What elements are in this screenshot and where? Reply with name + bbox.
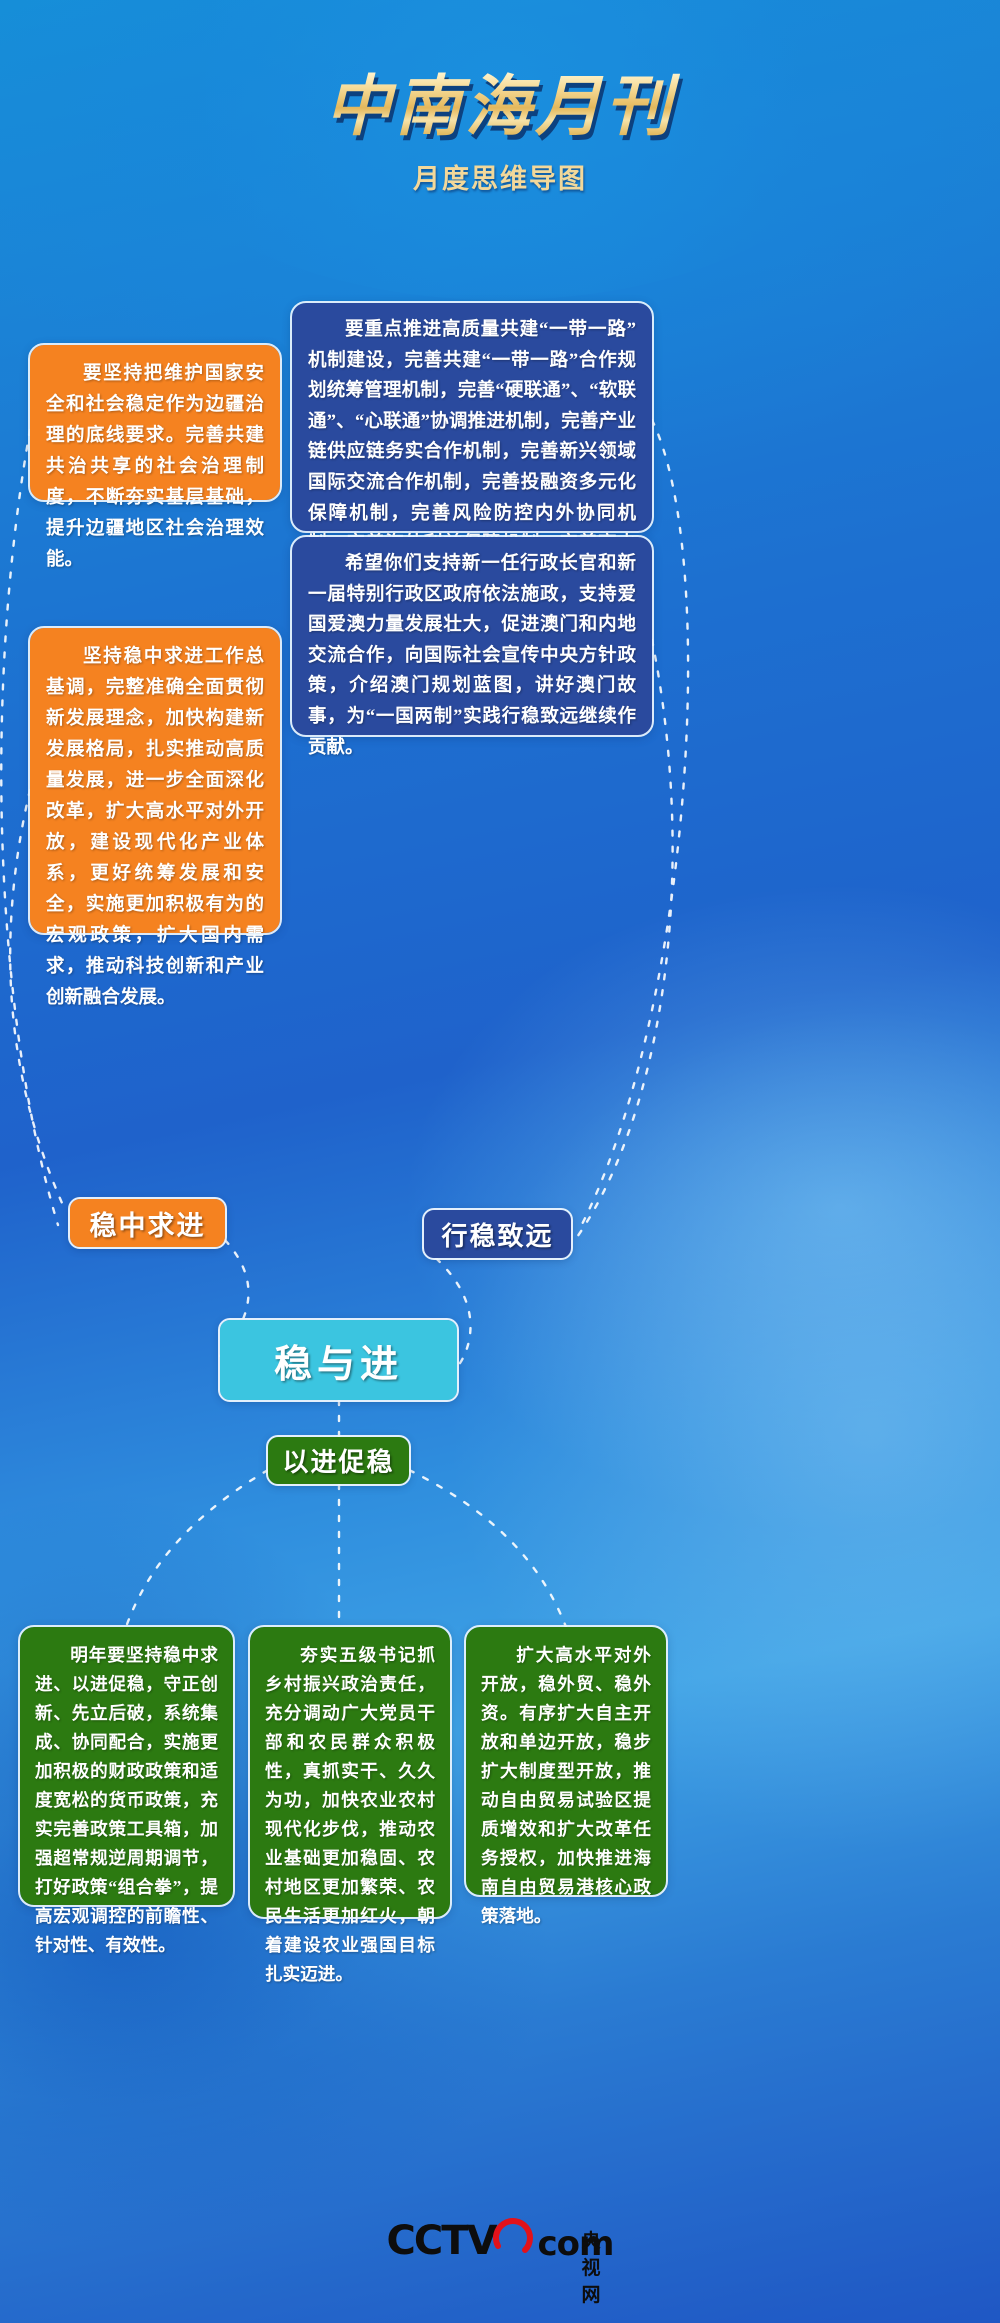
- card-steady-progress-text: 坚持稳中求进工作总基调，完整准确全面贯彻新发展理念，加快构建新发展格局，扎实推动…: [46, 642, 264, 1014]
- node-steady-and-far: 行稳致远: [424, 1210, 571, 1258]
- cctv-wordmark: CCTV: [387, 2222, 496, 2260]
- cctv-chinese-name: 央视网: [582, 2226, 614, 2307]
- card-macau-text: 希望你们支持新一任行政长官和新一届特别行政区政府依法施政，支持爱国爱澳力量发展壮…: [308, 549, 636, 763]
- infographic-canvas: 中南海月刊 月度思维导图 要坚持把维护国家安全和社会稳定作为边疆治理的底线要求。…: [0, 0, 1000, 2323]
- cctv-arc-icon: [492, 2216, 536, 2260]
- card-border-governance-text: 要坚持把维护国家安全和社会稳定作为边疆治理的底线要求。完善共建共治共享的社会治理…: [46, 359, 264, 576]
- node-center-stability-and-progress: 稳与进: [220, 1320, 457, 1400]
- cctv-logo-right: 央视网 com: [534, 2228, 614, 2260]
- node-progress-for-stability: 以进促稳: [268, 1437, 409, 1484]
- card-rural-revitalization-text: 夯实五级书记抓乡村振兴政治责任，充分调动广大党员干部和农民群众积极性，真抓实干、…: [265, 1641, 435, 1989]
- card-opening-up: 扩大高水平对外开放，稳外贸、稳外资。有序扩大自主开放和单边开放，稳步扩大制度型开…: [466, 1627, 666, 1895]
- footer: CCTV 央视网 com: [0, 2216, 1000, 2260]
- node-center-label: 稳与进: [274, 1333, 403, 1388]
- card-border-governance: 要坚持把维护国家安全和社会稳定作为边疆治理的底线要求。完善共建共治共享的社会治理…: [30, 345, 280, 500]
- card-rural-revitalization: 夯实五级书记抓乡村振兴政治责任，充分调动广大党员干部和农民群众积极性，真抓实干、…: [250, 1627, 450, 1917]
- header: 中南海月刊 月度思维导图: [0, 0, 1000, 196]
- node-steady-then-progress: 稳中求进: [70, 1199, 225, 1247]
- card-policy-toolbox: 明年要坚持稳中求进、以进促稳，守正创新、先立后破，系统集成、协同配合，实施更加积…: [20, 1627, 233, 1905]
- cctv-logo[interactable]: CCTV 央视网 com: [387, 2216, 614, 2260]
- card-belt-and-road: 要重点推进高质量共建“一带一路”机制建设，完善共建“一带一路”合作规划统筹管理机…: [292, 303, 652, 531]
- page-title: 中南海月刊: [0, 72, 1000, 141]
- card-steady-progress: 坚持稳中求进工作总基调，完整准确全面贯彻新发展理念，加快构建新发展格局，扎实推动…: [30, 628, 280, 933]
- node-steady-and-far-label: 行稳致远: [441, 1216, 553, 1253]
- node-progress-for-stability-label: 以进促稳: [282, 1442, 394, 1479]
- card-opening-up-text: 扩大高水平对外开放，稳外贸、稳外资。有序扩大自主开放和单边开放，稳步扩大制度型开…: [481, 1641, 651, 1931]
- page-subtitle: 月度思维导图: [0, 157, 1000, 196]
- card-policy-toolbox-text: 明年要坚持稳中求进、以进促稳，守正创新、先立后破，系统集成、协同配合，实施更加积…: [35, 1641, 218, 1960]
- node-steady-then-progress-label: 稳中求进: [90, 1204, 206, 1243]
- card-macau: 希望你们支持新一任行政长官和新一届特别行政区政府依法施政，支持爱国爱澳力量发展壮…: [292, 537, 652, 735]
